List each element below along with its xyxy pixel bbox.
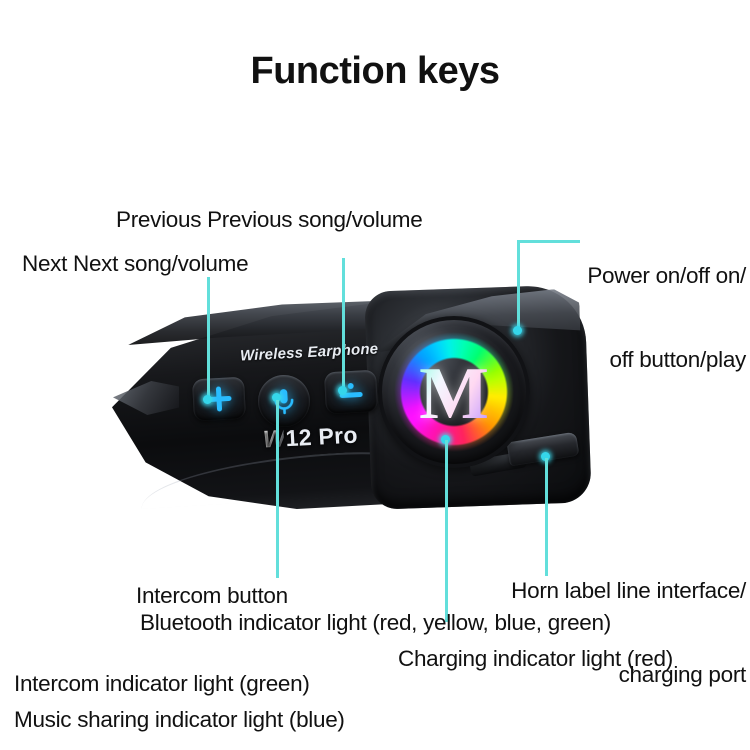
minus-button[interactable] <box>324 370 378 415</box>
leader-line-intercom <box>276 400 279 578</box>
page-title: Function keys <box>0 50 750 93</box>
leader-dot-next <box>203 395 212 404</box>
device-bottom-crease <box>139 445 471 509</box>
callout-power-line2: off button/play <box>480 346 746 374</box>
device-body <box>112 297 532 509</box>
callout-bluetooth-indicator: Bluetooth indicator light (red, yellow, … <box>140 609 611 637</box>
callout-next: Next Next song/volume <box>22 250 248 278</box>
microphone-button[interactable] <box>257 374 312 429</box>
callout-music-indicator: Music sharing indicator light (blue) <box>14 706 345 734</box>
device-left-tip <box>113 381 179 415</box>
leader-line-next <box>207 277 210 399</box>
callout-charging-indicator: Charging indicator light (red) <box>398 645 673 673</box>
callout-power-line1: Power on/off on/ <box>480 262 746 290</box>
charging-port-inner-tab <box>469 451 527 476</box>
callout-previous: Previous Previous song/volume <box>116 206 422 234</box>
leader-dot-previous <box>338 386 347 395</box>
device-top-bevel <box>120 299 525 345</box>
charging-port-tab[interactable] <box>507 432 580 467</box>
brand-w-logo-icon: W <box>262 425 284 454</box>
callout-intercom-indicator: Intercom indicator light (green) <box>14 670 310 698</box>
silkscreen-wireless-earphone: Wireless Earphone <box>240 340 379 364</box>
callout-power: Power on/off on/ off button/play <box>480 206 746 430</box>
callout-intercom-button: Intercom button <box>136 582 288 610</box>
model-text: 12 Pro <box>285 422 358 453</box>
callout-horn-line1: Horn label line interface/ <box>452 577 746 605</box>
plus-button[interactable] <box>192 377 246 422</box>
leader-line-indicator <box>445 440 448 622</box>
leader-line-previous <box>342 258 345 392</box>
infographic-page: Function keys M Wireless Earphone W 12 P… <box>0 0 750 750</box>
device-bottom-foot <box>394 467 492 502</box>
